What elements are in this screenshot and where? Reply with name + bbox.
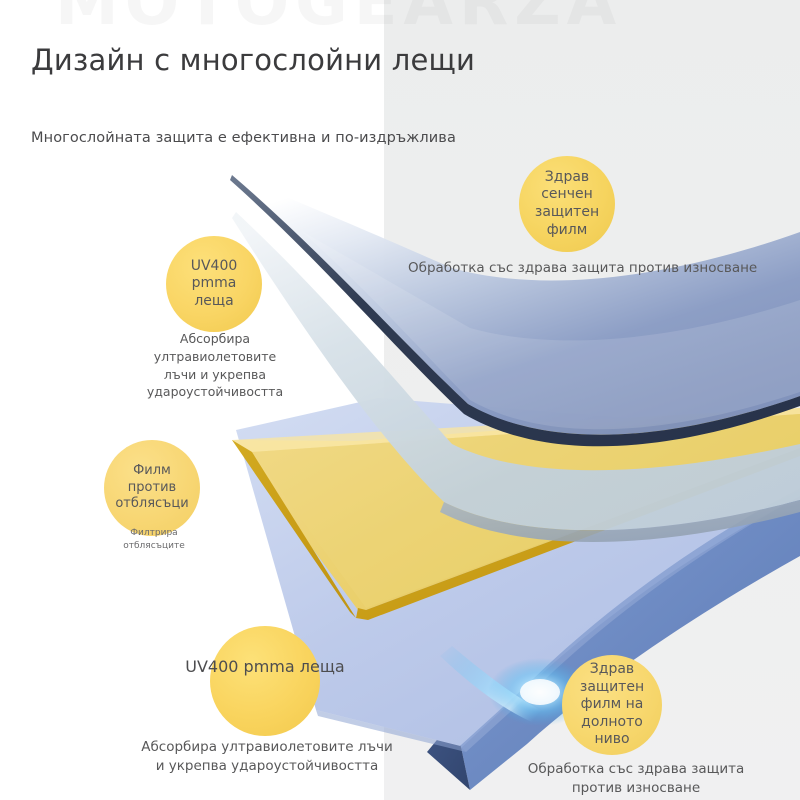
badge-uv400-lens-upper[interactable]: UV400 pmma леща xyxy=(166,236,262,332)
badge-line: долното xyxy=(576,714,648,732)
page-title: Дизайн с многослойни лещи xyxy=(31,43,475,77)
badge-uv400-lens-lower-label: UV400 pmma леща xyxy=(120,657,410,676)
illustration-stage: MOTOGEARZA xyxy=(0,0,800,800)
badge-line: UV400 xyxy=(166,258,262,276)
badge-line: Здрав xyxy=(576,661,648,679)
badge-line: ниво xyxy=(576,731,648,749)
badge-hard-shade-film[interactable]: Здрав сенчен защитен филм xyxy=(519,156,615,252)
badge-line: Здрав xyxy=(531,169,603,187)
caption-line: Филтрира xyxy=(130,528,177,538)
caption-anti-glare-film: Филтрира отблясъците xyxy=(112,527,196,553)
multilayer-lens-diagram xyxy=(0,0,800,800)
caption-line: отблясъците xyxy=(123,541,185,551)
caption-hard-shade-film: Обработка със здрава защита против износ… xyxy=(408,259,734,278)
caption-line: удароустойчивостта xyxy=(147,384,283,399)
badge-line: филм на xyxy=(576,696,648,714)
caption-line: против износване xyxy=(572,780,700,796)
badge-anti-glare-film[interactable]: Филм против отблясъци xyxy=(104,440,200,536)
caption-line: ултравиолетовите xyxy=(154,349,276,364)
caption-bottom-protective-film: Обработка със здрава защита против износ… xyxy=(475,760,797,798)
caption-uv400-lens-upper: Абсорбира ултравиолетовите лъчи и укрепв… xyxy=(140,330,290,401)
badge-bottom-protective-film[interactable]: Здрав защитен филм на долното ниво xyxy=(562,655,662,755)
badge-line: защитен xyxy=(531,204,603,222)
caption-line: Обработка със здрава защита xyxy=(528,761,745,777)
page-subtitle: Многослойната защита е ефективна и по-из… xyxy=(31,130,456,146)
badge-line: защитен xyxy=(576,679,648,697)
badge-line: отблясъци xyxy=(104,496,200,512)
caption-line: Абсорбира xyxy=(180,331,250,346)
badge-uv400-lens-lower[interactable] xyxy=(210,626,320,736)
caption-uv400-lens-lower: Абсорбира ултравиолетовите лъчи и укрепв… xyxy=(108,738,426,776)
caption-line: и укрепва удароустойчивостта xyxy=(156,758,379,774)
caption-line: Абсорбира ултравиолетовите лъчи xyxy=(141,739,393,755)
badge-line: pmma леща xyxy=(166,275,262,310)
badge-line: филм xyxy=(531,222,603,240)
caption-line: лъчи и укрепва xyxy=(164,367,266,382)
badge-line: Филм против xyxy=(104,463,200,496)
badge-line: сенчен xyxy=(531,186,603,204)
